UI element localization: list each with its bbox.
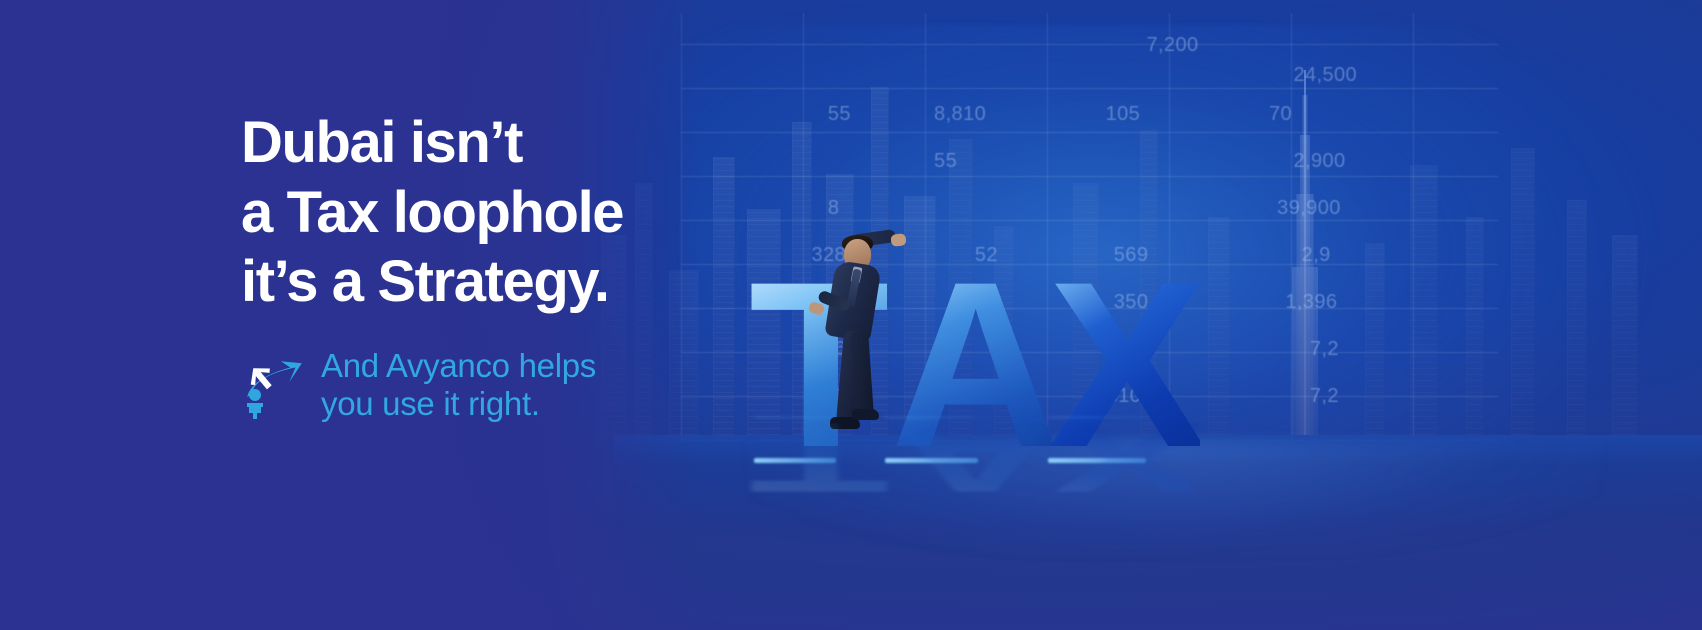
spreadsheet-cell: 24,500 — [1294, 64, 1358, 87]
letter-a: A — [890, 418, 1054, 497]
skyline-building — [1612, 235, 1638, 435]
subtitle-text: And Avyanco helps you use it right. — [321, 343, 596, 424]
letter-t: T — [749, 418, 887, 497]
subtitle-line-1: And Avyanco helps — [321, 347, 596, 386]
headline-line-3: it’s a Strategy. — [241, 247, 681, 317]
subtitle-line-2: you use it right. — [321, 385, 596, 424]
skyline-building — [1511, 148, 1535, 435]
spreadsheet-cell: 7,2 — [1310, 338, 1339, 361]
spreadsheet-cell: 105 — [1106, 103, 1141, 126]
spreadsheet-cell: 55 — [828, 103, 851, 126]
headline-line-2: a Tax loophole — [241, 178, 681, 248]
headline-line-1: Dubai isn’t — [241, 108, 681, 178]
tax-reflection: T A X — [749, 418, 1294, 460]
spreadsheet-cell: 2,900 — [1294, 150, 1346, 173]
letter-x: X — [1048, 418, 1199, 497]
spreadsheet-cell: 70 — [1269, 103, 1292, 126]
spreadsheet-cell: 7,2 — [1310, 385, 1339, 408]
spreadsheet-cell: 2,9 — [1302, 244, 1331, 267]
spreadsheet-cell: 7,200 — [1146, 34, 1198, 57]
subtitle-row: And Avyanco helps you use it right. — [241, 343, 681, 424]
growth-arrow-person-icon — [241, 349, 303, 419]
promo-banner: 7,20024,500558,81010570552,900839,900328… — [0, 0, 1702, 630]
spreadsheet-cell: 8,810 — [934, 103, 986, 126]
skyline-building — [1567, 200, 1587, 435]
copy-block: Dubai isn’t a Tax loophole it’s a Strate… — [241, 108, 681, 424]
spreadsheet-cell: 55 — [934, 150, 957, 173]
